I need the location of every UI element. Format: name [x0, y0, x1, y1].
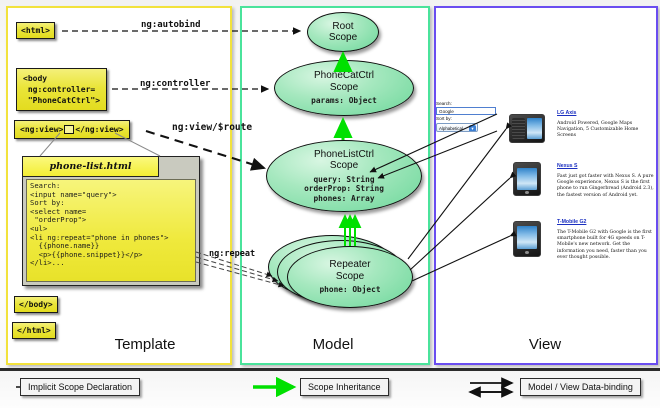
scope-repeater-props: phone: Object [319, 285, 380, 294]
phone-screen-graphic [517, 226, 537, 249]
scope-phonelistctrl-name: PhoneListCtrlScope [314, 149, 374, 172]
template-file-title: phone-list.html [23, 157, 159, 177]
scope-repeater: RepeaterScope phone: Object [287, 246, 413, 308]
tag-ngview-open: <ng:view> [20, 125, 63, 134]
phone-home-button-graphic [525, 191, 529, 194]
diagram-canvas: Template Model View <html> <body ng:cont… [0, 0, 660, 405]
legend-item-implicit: Implicit Scope Declaration [20, 377, 140, 397]
column-label-template: Template [90, 336, 200, 353]
template-file-code: Search: <input name="query"> Sort by: <s… [26, 179, 196, 282]
phone-thumbnail-nexus-s[interactable] [513, 162, 541, 196]
scope-phonecatctrl-name: PhoneCatCtrlScope [314, 70, 374, 93]
phone-keyboard-graphic [512, 118, 525, 139]
phone-snippet-nexus-s: Fast just got faster with Nexus S. A pur… [557, 174, 655, 199]
template-file-note: phone-list.html Search: <input name="que… [22, 156, 200, 286]
scope-phonecatctrl: PhoneCatCtrlScope params: Object [274, 60, 414, 116]
legend-item-inheritance: Scope Inheritance [300, 377, 389, 397]
view-search-form: Search: Google Sort by: Alphabetical▾ [436, 101, 498, 132]
sort-label: Sort by: [436, 116, 498, 122]
scope-root: RootScope [307, 12, 379, 52]
phone-screen-graphic [527, 118, 542, 139]
column-label-model: Model [278, 336, 388, 353]
phone-link-t-mobile-g2[interactable]: T-Mobile G2 [557, 219, 586, 226]
phone-screen-graphic [517, 168, 537, 190]
legend: Implicit Scope Declaration Scope Inherit… [0, 368, 660, 408]
phone-thumbnail-t-mobile-g2[interactable] [513, 221, 541, 257]
legend-label-binding: Model / View Data-binding [520, 378, 641, 396]
scope-phonelistctrl: PhoneListCtrlScope query: String orderPr… [266, 140, 422, 212]
phone-home-button-graphic [525, 251, 529, 254]
scope-phonelistctrl-props: query: String orderProp: String phones: … [304, 175, 384, 203]
tag-html-open: <html> [16, 22, 55, 39]
tag-body-close: </body> [14, 296, 58, 313]
phone-thumbnail-lg-axis[interactable] [509, 114, 545, 143]
connector-label-ng-view-route: ng:view/$route [172, 122, 252, 133]
scope-repeater-name: RepeaterScope [329, 259, 370, 282]
phone-link-lg-axis[interactable]: LG Axis [557, 110, 576, 117]
tag-ngview: <ng:view></ng:view> [14, 120, 130, 139]
connector-label-ng-autobind: ng:autobind [141, 20, 201, 30]
chevron-down-icon: ▾ [469, 125, 476, 132]
legend-item-binding: Model / View Data-binding [520, 377, 641, 397]
scope-root-name: RootScope [329, 21, 357, 44]
legend-label-implicit: Implicit Scope Declaration [20, 378, 140, 396]
phone-snippet-lg-axis: Android Powered, Google Maps Navigation,… [557, 121, 655, 140]
column-label-view: View [490, 336, 600, 353]
connector-label-ng-repeat: ng:repeat [209, 249, 255, 259]
tag-body-open: <body ng:controller= "PhoneCatCtrl"> [16, 68, 107, 111]
phone-snippet-t-mobile-g2: The T-Mobile G2 with Google is the first… [557, 230, 655, 261]
tag-ngview-close: </ng:view> [75, 125, 123, 134]
tag-html-close: </html> [12, 322, 56, 339]
sort-select[interactable]: Alphabetical▾ [436, 123, 478, 132]
legend-label-inheritance: Scope Inheritance [300, 378, 389, 396]
ngview-placeholder-icon [64, 125, 74, 134]
search-input[interactable]: Google [436, 107, 496, 115]
phone-link-nexus-s[interactable]: Nexus S [557, 163, 577, 170]
sort-select-value: Alphabetical [439, 126, 463, 131]
connector-label-ng-controller: ng:controller [140, 79, 210, 89]
scope-phonecatctrl-props: params: Object [311, 96, 377, 105]
